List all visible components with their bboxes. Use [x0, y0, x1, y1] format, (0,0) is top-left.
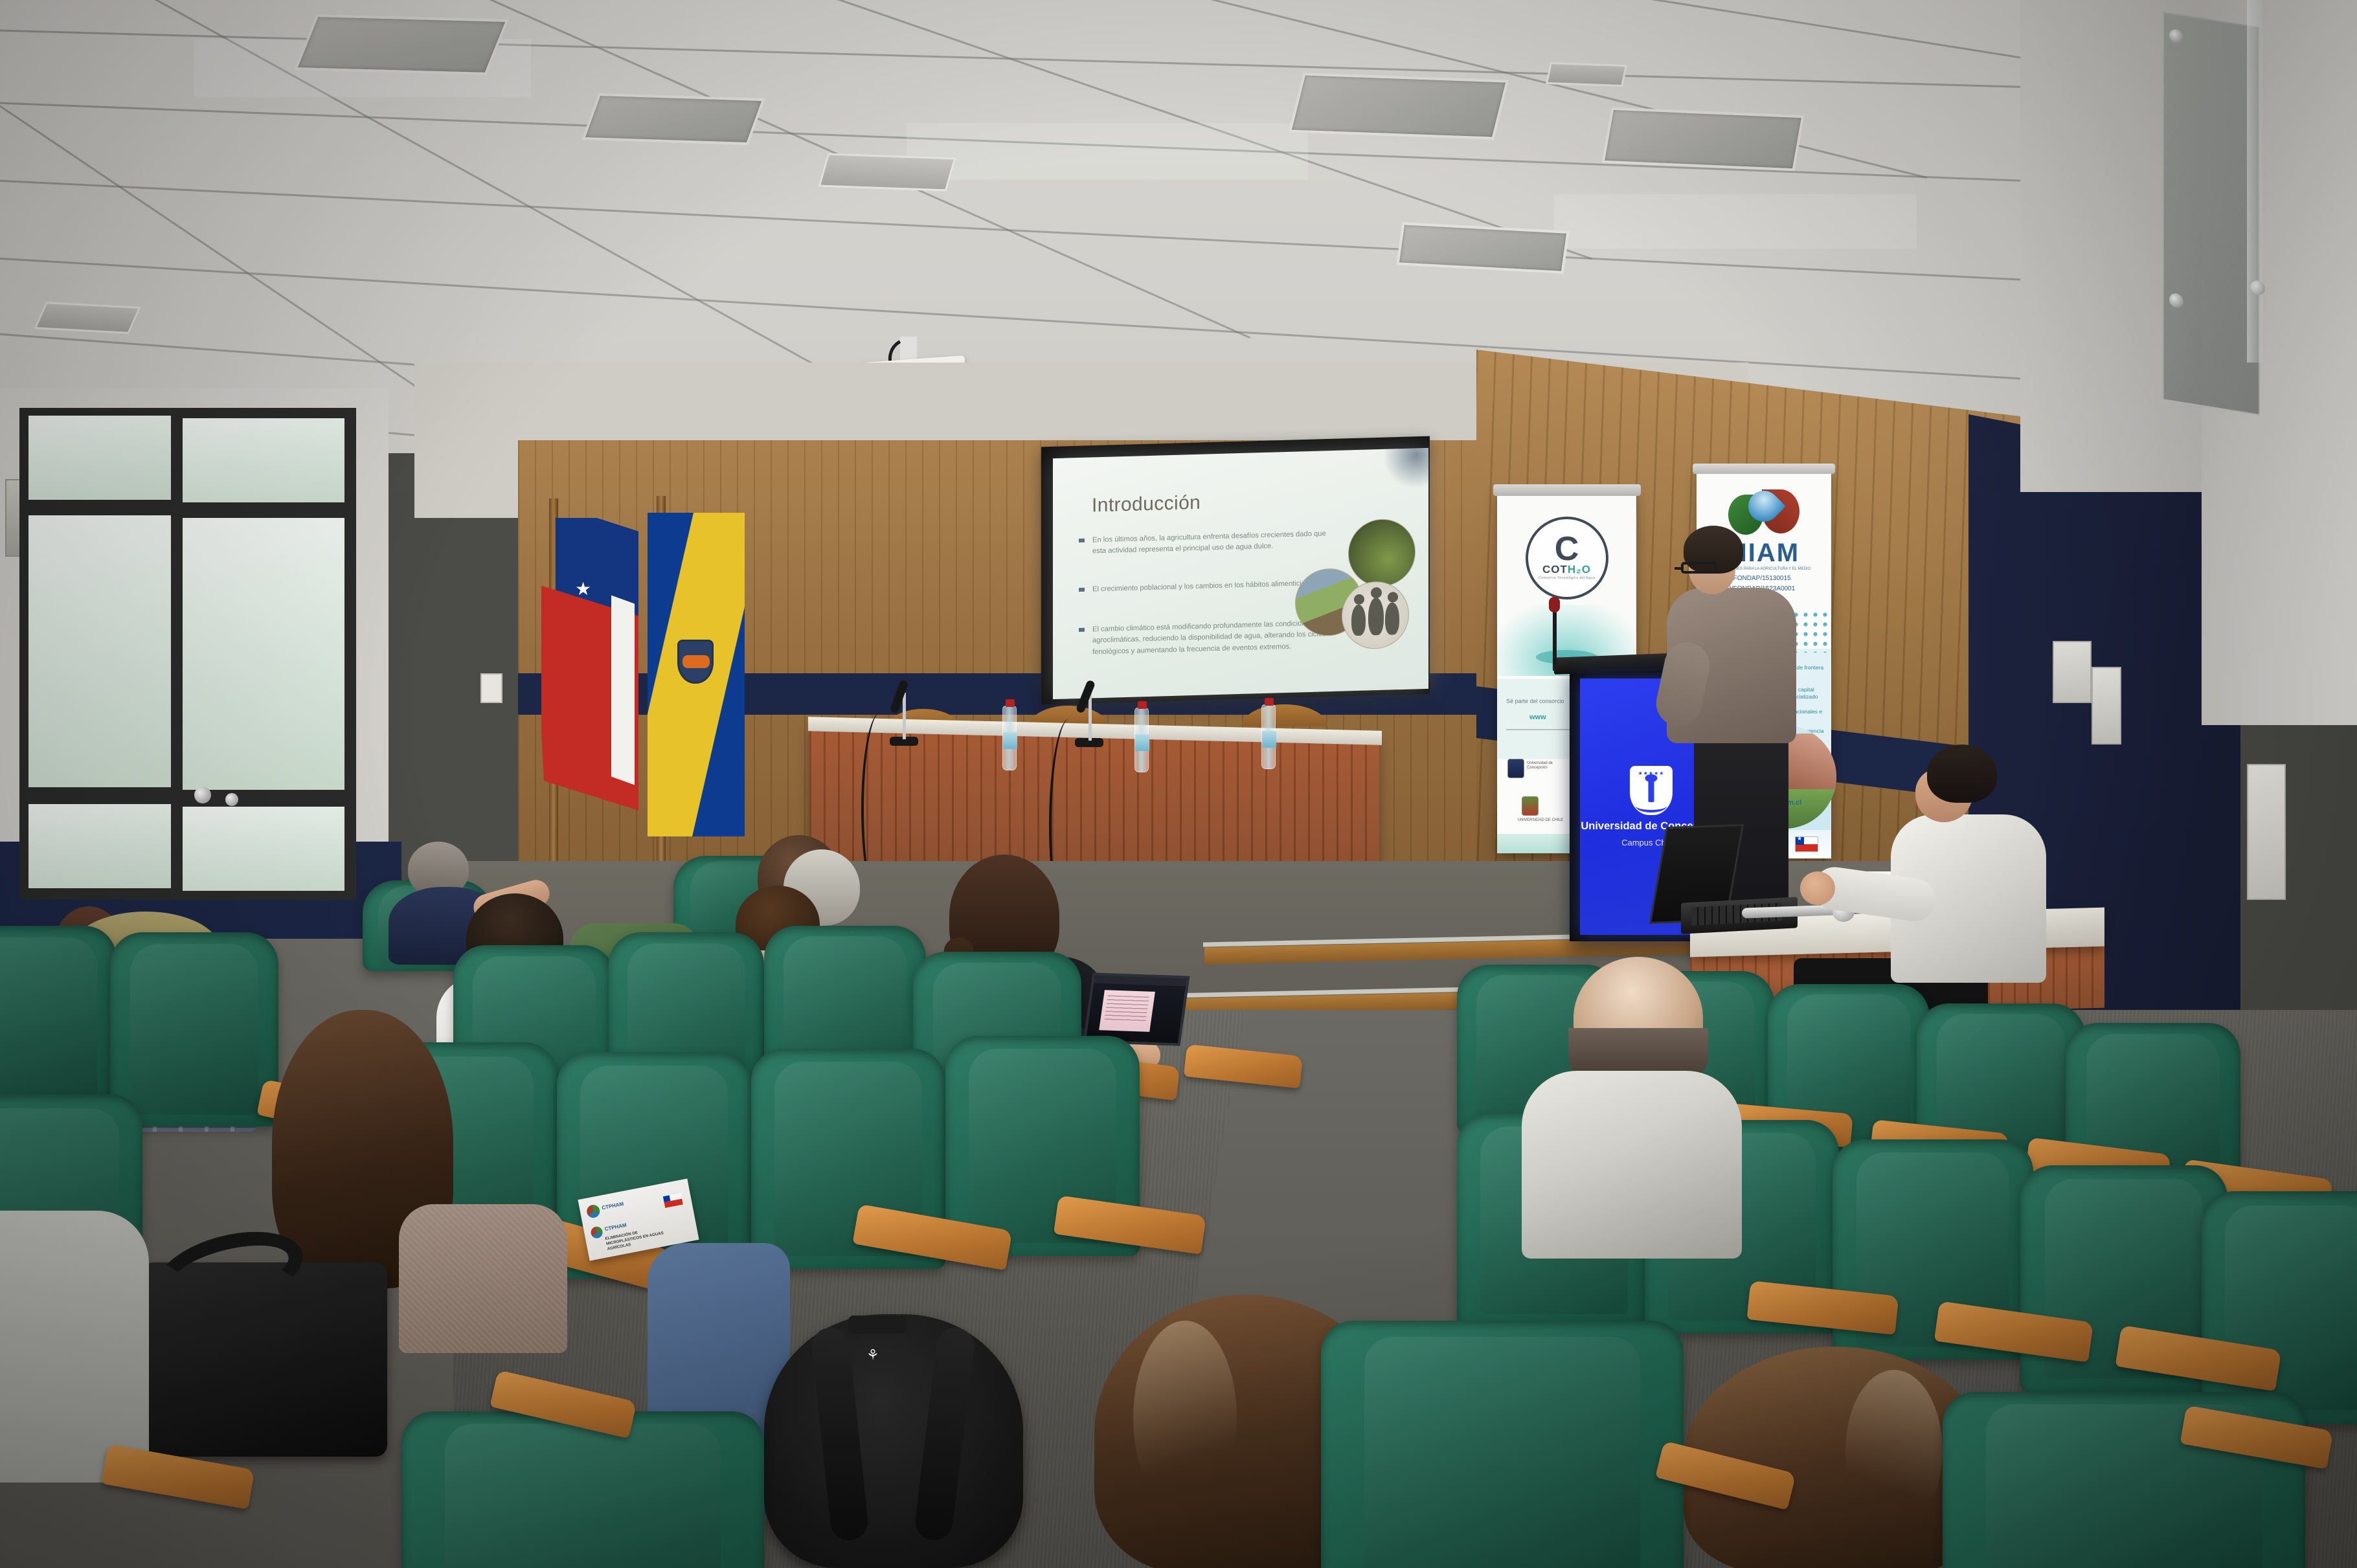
- bullet-marker-icon: [1079, 539, 1085, 543]
- standoff-screw: [2169, 293, 2183, 309]
- door-handle[interactable]: [225, 793, 238, 806]
- slide-bullet: En los últimos años, la agricultura enfr…: [1079, 528, 1331, 558]
- bottle-cap: [1138, 701, 1147, 709]
- projected-slide: Introducción En los últimos años, la agr…: [1053, 448, 1428, 699]
- booklet-org: CTPHAM: [602, 1201, 624, 1211]
- water-bottle: [1002, 706, 1017, 770]
- banner-cta-text: Sé parte del consorcio: [1506, 698, 1564, 704]
- backpack-logo-icon: ⚘: [866, 1348, 883, 1365]
- operator-hand: [1800, 871, 1835, 905]
- slide-bullet-text: El crecimiento poblacional y los cambios…: [1092, 578, 1311, 596]
- water-bottle: [1134, 708, 1149, 772]
- window-pane: [28, 804, 171, 888]
- wall-mounted-box: [2092, 667, 2121, 745]
- podium-microphone-stem: [1553, 609, 1557, 671]
- podium-microphone-head: [1549, 597, 1560, 612]
- slide-bullet: El cambio climático está modificando pro…: [1079, 618, 1331, 658]
- bottle-label: [1135, 734, 1149, 751]
- seat-back[interactable]: [110, 932, 278, 1126]
- uco-crest-icon: ★★★★★: [1630, 766, 1673, 815]
- booklet-org: CTPHAM: [604, 1222, 627, 1232]
- flag-chile: ★: [541, 518, 638, 822]
- crest-torch: [1649, 780, 1654, 802]
- flag-chile-star-icon: ★: [575, 580, 591, 598]
- ceiling-panel: [1396, 222, 1569, 274]
- banner-top-rail: [1693, 464, 1835, 474]
- ceiling-panel: [294, 14, 509, 75]
- wall-mounted-box: [2053, 641, 2092, 703]
- coth2o-name-accent: H₂O: [1568, 563, 1591, 576]
- chile-flag-icon: [1795, 836, 1818, 852]
- flag-institutional-crest-band: [682, 655, 710, 668]
- bullet-marker-icon: [1079, 588, 1085, 592]
- window-pane: [28, 515, 171, 787]
- laptop-document: [1099, 990, 1155, 1032]
- seat-back[interactable]: [1321, 1321, 1684, 1568]
- backpack-handle: [848, 1316, 907, 1334]
- slide-bullet: El crecimiento poblacional y los cambios…: [1079, 577, 1331, 596]
- bottle-label: [1003, 732, 1017, 749]
- laptop-toolbar: [1094, 976, 1187, 987]
- audience-grey-shirt: [1522, 1071, 1742, 1259]
- window-pane: [183, 418, 344, 502]
- partner-crest-uco: [1507, 759, 1524, 778]
- window-pane: [183, 518, 344, 790]
- door-handle[interactable]: [194, 787, 211, 803]
- water-bottle: [1261, 704, 1276, 769]
- banner-top-rail: [1493, 484, 1641, 496]
- hair-highlight: [1133, 1321, 1237, 1515]
- glass-sign-panel: [2163, 12, 2260, 416]
- slide-photo-people-group: [1342, 581, 1409, 650]
- partner-label-uchile: UNIVERSIDAD DE CHILE: [1517, 818, 1564, 823]
- auditorium-photo: Introducción En los últimos años, la agr…: [0, 0, 2357, 1568]
- booklet-logo: [590, 1226, 603, 1239]
- bullet-marker-icon: [1079, 628, 1085, 632]
- audience-laptop-screen[interactable]: [1083, 972, 1190, 1046]
- booklet-logo: [586, 1204, 601, 1218]
- seat-back[interactable]: [401, 1411, 764, 1568]
- ceiling-air-vent: [34, 302, 141, 334]
- speaker-glasses: [1681, 562, 1717, 574]
- coth2o-logo: C COTH₂O Consorcio Tecnológico del Agua: [1526, 517, 1608, 599]
- audience-grey-hoodie: [0, 1211, 149, 1483]
- slide-photo-crop-irrigation: [1348, 518, 1415, 587]
- ceiling-air-vent: [1546, 62, 1627, 87]
- window-pane: [28, 416, 171, 500]
- ceiling-panel: [581, 93, 765, 145]
- coth2o-tagline: Consorcio Tecnológico del Agua: [1539, 576, 1595, 580]
- partner-label-uco: Universidad de Concepción: [1527, 761, 1566, 770]
- seat-back[interactable]: [0, 926, 117, 1120]
- slide-decoration: [1382, 448, 1428, 488]
- wall-mounted-panel: [2247, 764, 2286, 900]
- hiam-logo: [1728, 487, 1799, 540]
- ceiling-panel: [1602, 107, 1805, 172]
- black-backpack[interactable]: [764, 1314, 1023, 1568]
- coth2o-name-main: COT: [1542, 563, 1568, 576]
- flag-chile-white-band: [611, 595, 635, 785]
- standoff-screw: [2169, 28, 2183, 45]
- banner-cta-url: www: [1529, 713, 1546, 721]
- chile-flag-icon: [663, 1193, 683, 1208]
- microphone-stand: [1088, 694, 1092, 741]
- window-pane: [183, 807, 344, 891]
- flag-institutional: [648, 513, 745, 836]
- operator-hair: [1927, 745, 1997, 803]
- seat-back[interactable]: [2202, 1191, 2357, 1424]
- bottle-cap: [1265, 698, 1274, 706]
- glass-door-window[interactable]: [19, 408, 356, 900]
- bottle-cap: [1006, 699, 1015, 707]
- ceiling-air-vent: [818, 153, 956, 192]
- coth2o-wordmark: COTH₂O: [1542, 563, 1591, 576]
- audience-sparkly-top: [399, 1204, 567, 1353]
- glass-edge-highlight: [2247, 0, 2265, 363]
- slide-title: Introducción: [1092, 492, 1201, 517]
- bottle-label: [1262, 731, 1276, 748]
- wall-outlet: [480, 673, 502, 703]
- slide-image-cluster: [1295, 518, 1418, 660]
- microphone-stand: [903, 693, 906, 739]
- ceiling-panel: [1289, 73, 1509, 139]
- coth2o-logo-letter: C: [1555, 536, 1579, 563]
- partner-crest-uchile: [1522, 796, 1539, 816]
- crest-wreath: [1636, 800, 1667, 812]
- hair-highlight: [1845, 1370, 1943, 1532]
